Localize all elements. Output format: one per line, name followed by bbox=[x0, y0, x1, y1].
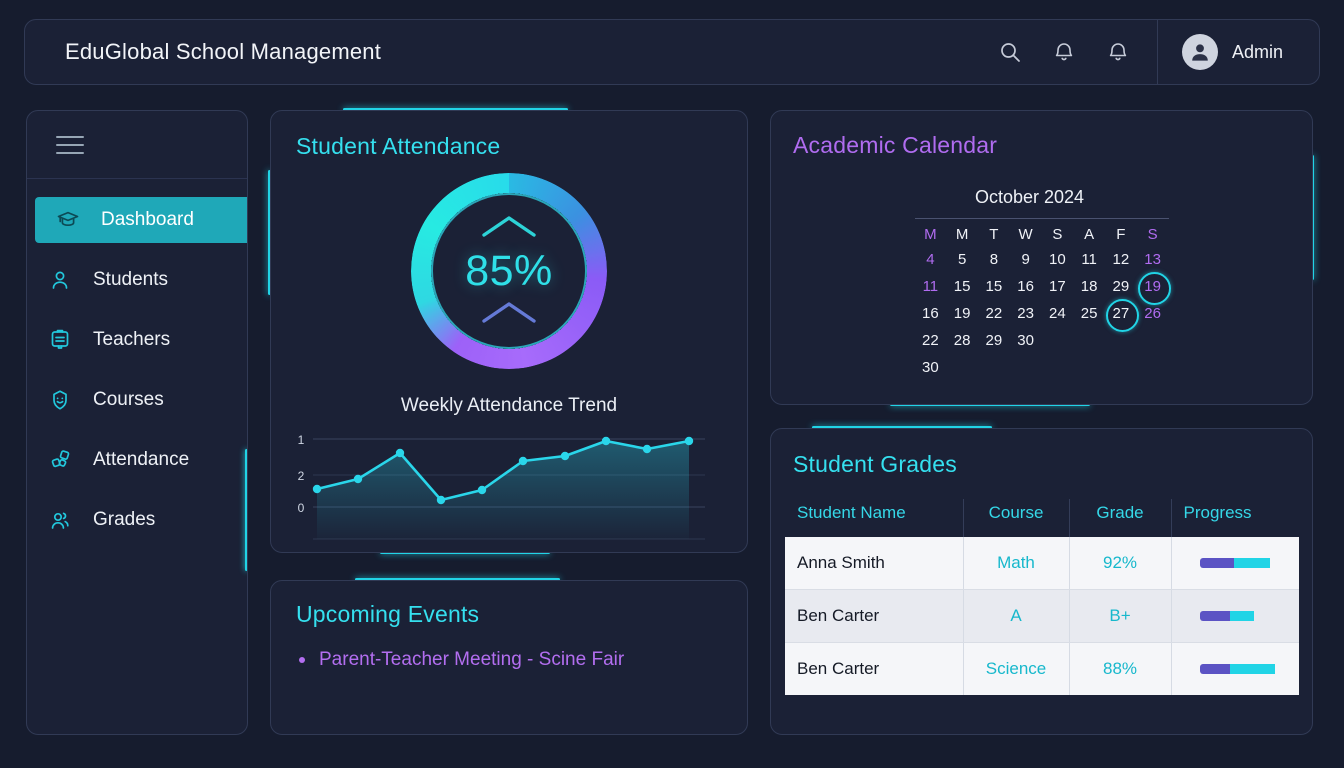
calendar-day-empty bbox=[1137, 327, 1169, 354]
cell-grade: 92% bbox=[1069, 537, 1171, 590]
column-header-progress[interactable]: Progress bbox=[1171, 499, 1299, 537]
weekday-header: S bbox=[1042, 219, 1074, 247]
calendar-day[interactable]: 23 bbox=[1010, 300, 1042, 327]
calendar-day[interactable]: 29 bbox=[978, 327, 1010, 354]
cell-student-name: Ben Carter bbox=[785, 643, 963, 696]
header-icon-group bbox=[997, 39, 1131, 65]
sidebar-item-students[interactable]: Students bbox=[27, 257, 247, 303]
calendar-day[interactable]: 22 bbox=[915, 327, 947, 354]
calendar-day[interactable]: 17 bbox=[1042, 273, 1074, 300]
student-grades-card: Student Grades Student Name Course Grade… bbox=[770, 428, 1313, 735]
weekday-header: S bbox=[1137, 219, 1169, 247]
weekly-attendance-trend-chart: 1 2 0 bbox=[285, 423, 735, 541]
calendar-week-row: 22 28 29 30 bbox=[915, 327, 1169, 354]
graduation-cap-icon bbox=[55, 208, 81, 232]
progress-segment-purple bbox=[1200, 558, 1234, 568]
sidebar-nav: Dashboard Students bbox=[27, 179, 247, 543]
clipboard-icon bbox=[47, 328, 73, 352]
calendar-day-empty bbox=[1010, 354, 1042, 381]
calendar-day-empty bbox=[1073, 327, 1105, 354]
grades-card-title: Student Grades bbox=[793, 451, 957, 478]
calendar-body: October 2024 M M T W S A F S bbox=[771, 187, 1312, 381]
student-attendance-card: Student Attendance 85% Weekly Attendance… bbox=[270, 110, 748, 553]
calendar-grid: M M T W S A F S 4 5 8 9 bbox=[915, 218, 1169, 381]
attendance-gauge: 85% bbox=[411, 173, 607, 369]
cell-grade: B+ bbox=[1069, 590, 1171, 643]
bell-icon[interactable] bbox=[1051, 39, 1077, 65]
column-header-student-name[interactable]: Student Name bbox=[785, 499, 963, 537]
calendar-day[interactable]: 16 bbox=[915, 300, 947, 327]
cell-progress bbox=[1171, 643, 1299, 696]
column-header-grade[interactable]: Grade bbox=[1069, 499, 1171, 537]
calendar-day-empty bbox=[1042, 327, 1074, 354]
sidebar-header bbox=[27, 111, 247, 179]
sidebar-item-attendance[interactable]: Attendance bbox=[27, 437, 247, 483]
progress-segment-cyan bbox=[1230, 664, 1275, 674]
grades-table-body: Anna Smith Math 92% Ben Carter A B+ bbox=[785, 537, 1299, 695]
progress-bar bbox=[1200, 664, 1300, 674]
svg-text:1: 1 bbox=[298, 433, 305, 447]
progress-segment-cyan bbox=[1230, 611, 1254, 621]
sidebar-item-label: Grades bbox=[93, 509, 155, 531]
calendar-day-selected[interactable]: 19 bbox=[1137, 273, 1169, 300]
users-group-icon bbox=[47, 508, 73, 532]
weekday-header: M bbox=[915, 219, 947, 247]
list-item[interactable]: Parent-Teacher Meeting - Scine Fair bbox=[299, 649, 624, 671]
sidebar-item-label: Attendance bbox=[93, 449, 189, 471]
calendar-week-row: 30 bbox=[915, 354, 1169, 381]
calendar-day[interactable]: 28 bbox=[946, 327, 978, 354]
table-row[interactable]: Ben Carter Science 88% bbox=[785, 643, 1299, 696]
sidebar-item-grades[interactable]: Grades bbox=[27, 497, 247, 543]
svg-text:0: 0 bbox=[298, 501, 305, 515]
avatar bbox=[1182, 34, 1218, 70]
academic-calendar-card: Academic Calendar October 2024 M M T W S… bbox=[770, 110, 1313, 405]
cell-student-name: Ben Carter bbox=[785, 590, 963, 643]
chevron-up-icon bbox=[480, 213, 538, 244]
search-icon[interactable] bbox=[997, 39, 1023, 65]
calendar-day[interactable]: 29 bbox=[1105, 273, 1137, 300]
cell-course: Science bbox=[963, 643, 1069, 696]
calendar-day-empty bbox=[1073, 354, 1105, 381]
calendar-day[interactable]: 9 bbox=[1010, 246, 1042, 273]
weekday-header: A bbox=[1073, 219, 1105, 247]
cell-course: A bbox=[963, 590, 1069, 643]
table-row[interactable]: Ben Carter A B+ bbox=[785, 590, 1299, 643]
cell-course: Math bbox=[963, 537, 1069, 590]
calendar-day[interactable]: 26 bbox=[1137, 300, 1169, 327]
events-card-title: Upcoming Events bbox=[296, 601, 479, 628]
calendar-day[interactable]: 15 bbox=[946, 273, 978, 300]
calendar-day[interactable]: 5 bbox=[946, 246, 978, 273]
sidebar-item-dashboard[interactable]: Dashboard bbox=[35, 197, 247, 243]
events-list: Parent-Teacher Meeting - Scine Fair bbox=[299, 649, 624, 671]
calendar-week-row: 16 19 22 23 24 25 27 26 bbox=[915, 300, 1169, 327]
calendar-day[interactable]: 10 bbox=[1042, 246, 1074, 273]
event-label: Parent-Teacher Meeting - Scine Fair bbox=[319, 649, 624, 671]
calendar-day[interactable]: 30 bbox=[915, 354, 947, 381]
calendar-day[interactable]: 25 bbox=[1073, 300, 1105, 327]
calendar-week-row: 4 5 8 9 10 11 12 13 bbox=[915, 246, 1169, 273]
calendar-days: 4 5 8 9 10 11 12 13 11 15 15 16 17 bbox=[915, 246, 1169, 381]
calendar-card-title: Academic Calendar bbox=[793, 132, 997, 159]
sidebar: Dashboard Students bbox=[26, 110, 248, 735]
calendar-day[interactable]: 30 bbox=[1010, 327, 1042, 354]
calendar-day[interactable]: 11 bbox=[1073, 246, 1105, 273]
user-icon bbox=[47, 268, 73, 292]
calendar-day-empty bbox=[1105, 327, 1137, 354]
weekday-header: M bbox=[946, 219, 978, 247]
calendar-day[interactable]: 13 bbox=[1137, 246, 1169, 273]
page-title: EduGlobal School Management bbox=[65, 39, 381, 65]
calendar-week-row: 11 15 15 16 17 18 29 19 bbox=[915, 273, 1169, 300]
calendar-day-selected[interactable]: 27 bbox=[1105, 300, 1137, 327]
calendar-day-empty bbox=[978, 354, 1010, 381]
puzzle-icon bbox=[47, 448, 73, 472]
sidebar-accent-bar bbox=[245, 449, 248, 571]
calendar-day[interactable]: 12 bbox=[1105, 246, 1137, 273]
calendar-day[interactable]: 24 bbox=[1042, 300, 1074, 327]
gauge-value: 85% bbox=[465, 250, 553, 293]
svg-text:2: 2 bbox=[298, 469, 305, 483]
calendar-day-empty bbox=[1105, 354, 1137, 381]
sidebar-item-label: Dashboard bbox=[101, 209, 194, 231]
bell-icon-secondary[interactable] bbox=[1105, 39, 1131, 65]
calendar-day-empty bbox=[1042, 354, 1074, 381]
table-row[interactable]: Anna Smith Math 92% bbox=[785, 537, 1299, 590]
cell-student-name: Anna Smith bbox=[785, 537, 963, 590]
bullet-icon bbox=[299, 657, 305, 663]
calendar-month-label: October 2024 bbox=[771, 187, 1312, 208]
hamburger-icon[interactable] bbox=[56, 130, 84, 160]
sidebar-item-label: Courses bbox=[93, 389, 164, 411]
calendar-day[interactable]: 18 bbox=[1073, 273, 1105, 300]
sidebar-item-teachers[interactable]: Teachers bbox=[27, 317, 247, 363]
calendar-day-empty bbox=[1137, 354, 1169, 381]
grades-table: Student Name Course Grade Progress Anna … bbox=[785, 499, 1299, 695]
user-menu[interactable]: Admin bbox=[1158, 34, 1319, 70]
progress-segment-purple bbox=[1200, 664, 1230, 674]
cell-progress bbox=[1171, 590, 1299, 643]
calendar-day[interactable]: 19 bbox=[946, 300, 978, 327]
gauge-center: 85% bbox=[411, 173, 607, 369]
weekday-header: T bbox=[978, 219, 1010, 247]
sidebar-item-label: Teachers bbox=[93, 329, 170, 351]
cell-progress bbox=[1171, 537, 1299, 590]
calendar-day[interactable]: 11 bbox=[915, 273, 947, 300]
calendar-day[interactable]: 15 bbox=[978, 273, 1010, 300]
chevron-up-icon-lower bbox=[480, 299, 538, 330]
weekday-header: F bbox=[1105, 219, 1137, 247]
calendar-day-empty bbox=[946, 354, 978, 381]
sidebar-item-label: Students bbox=[93, 269, 168, 291]
calendar-day[interactable]: 8 bbox=[978, 246, 1010, 273]
app-header: EduGlobal School Management bbox=[24, 19, 1320, 85]
table-header-row: Student Name Course Grade Progress bbox=[785, 499, 1299, 537]
column-header-course[interactable]: Course bbox=[963, 499, 1069, 537]
attendance-card-title: Student Attendance bbox=[296, 133, 500, 160]
calendar-day[interactable]: 16 bbox=[1010, 273, 1042, 300]
weekday-header: W bbox=[1010, 219, 1042, 247]
cell-grade: 88% bbox=[1069, 643, 1171, 696]
calendar-weekday-row: M M T W S A F S bbox=[915, 219, 1169, 247]
calendar-day[interactable]: 4 bbox=[915, 246, 947, 273]
progress-bar bbox=[1200, 558, 1300, 568]
user-name: Admin bbox=[1232, 42, 1283, 63]
calendar-day[interactable]: 22 bbox=[978, 300, 1010, 327]
dashboard-app: EduGlobal School Management bbox=[0, 0, 1344, 768]
upcoming-events-card: Upcoming Events Parent-Teacher Meeting -… bbox=[270, 580, 748, 735]
progress-segment-cyan bbox=[1234, 558, 1270, 568]
trend-chart-title: Weekly Attendance Trend bbox=[271, 395, 747, 417]
sidebar-item-courses[interactable]: Courses bbox=[27, 377, 247, 423]
smiley-face-icon bbox=[47, 388, 73, 412]
progress-segment-purple bbox=[1200, 611, 1230, 621]
progress-bar bbox=[1200, 611, 1300, 621]
